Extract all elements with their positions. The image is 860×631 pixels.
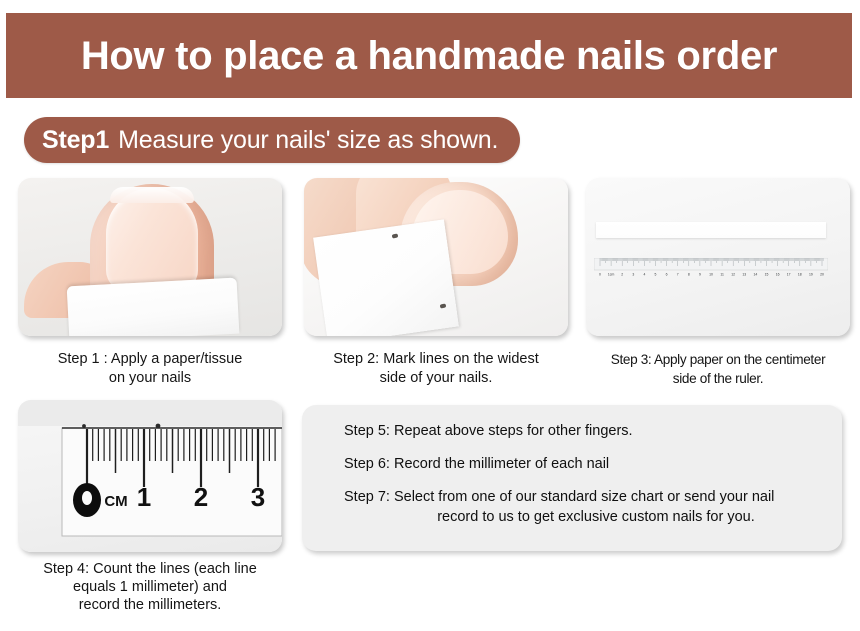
closeup-ruler-graphic: 123 CM <box>18 400 282 552</box>
paper-strip-on-ruler <box>596 222 826 238</box>
step7-line1: Step 7: Select from one of our standard … <box>344 489 774 505</box>
photo-card-step2 <box>304 178 568 336</box>
svg-text:14: 14 <box>754 273 758 277</box>
caption-step1-line2: on your nails <box>12 369 288 388</box>
svg-text:19: 19 <box>809 273 813 277</box>
fingers-marking-paper-photo <box>304 178 568 336</box>
caption-step3-line1: Step 3: Apply paper on the centimeter <box>580 350 856 369</box>
svg-text:4: 4 <box>643 273 645 277</box>
step7-line2: record to us to get exclusive custom nai… <box>344 507 820 527</box>
infographic-page: How to place a handmade nails order Step… <box>0 0 860 631</box>
caption-step2-line2: side of your nails. <box>298 369 574 388</box>
photo-background <box>586 178 850 336</box>
caption-step2: Step 2: Mark lines on the widest side of… <box>298 350 574 388</box>
header-band: How to place a handmade nails order <box>6 13 852 98</box>
svg-text:9: 9 <box>699 273 701 277</box>
svg-text:2: 2 <box>621 273 623 277</box>
svg-text:5: 5 <box>655 273 657 277</box>
nail-tip-shape <box>110 187 194 203</box>
svg-text:CM: CM <box>104 493 127 510</box>
caption-step2-line1: Step 2: Mark lines on the widest <box>298 350 574 369</box>
caption-step4-line3: record the millimeters. <box>10 596 290 614</box>
photo-card-step4: 123 CM <box>18 400 282 552</box>
svg-text:0: 0 <box>599 273 601 277</box>
ruler-closeup-photo: 123 CM <box>18 400 282 552</box>
step6-line: Step 6: Record the millimeter of each na… <box>344 454 820 474</box>
step1-label: Step1 <box>42 128 109 153</box>
step5-line: Step 5: Repeat above steps for other fin… <box>344 421 820 441</box>
svg-text:3: 3 <box>251 482 265 512</box>
paper-tissue-strip <box>67 278 240 336</box>
svg-text:13: 13 <box>742 273 746 277</box>
svg-text:11: 11 <box>720 273 724 277</box>
svg-text:1: 1 <box>137 482 151 512</box>
svg-text:17: 17 <box>787 273 791 277</box>
paper-strip <box>313 219 459 336</box>
svg-text:3: 3 <box>632 273 634 277</box>
caption-step3: Step 3: Apply paper on the centimeter si… <box>580 350 856 388</box>
steps-5-to-7-panel: Step 5: Repeat above steps for other fin… <box>302 405 842 551</box>
svg-text:20: 20 <box>820 273 824 277</box>
svg-text:2: 2 <box>194 482 208 512</box>
long-ruler-graphic: 01cm234567891011121314151617181920 <box>594 258 828 286</box>
caption-step4-line2: equals 1 millimeter) and <box>10 578 290 596</box>
svg-text:6: 6 <box>666 273 668 277</box>
svg-text:16: 16 <box>776 273 780 277</box>
paper-on-ruler-photo: 01cm234567891011121314151617181920 <box>586 178 850 336</box>
step1-banner: Step1 Measure your nails' size as shown. <box>24 117 520 163</box>
step1-instruction: Measure your nails' size as shown. <box>118 128 498 153</box>
svg-text:1cm: 1cm <box>608 273 615 277</box>
caption-step4-line1: Step 4: Count the lines (each line <box>10 560 290 578</box>
caption-step3-line2: side of the ruler. <box>580 369 856 388</box>
svg-text:18: 18 <box>798 273 802 277</box>
svg-text:15: 15 <box>765 273 769 277</box>
caption-step4: Step 4: Count the lines (each line equal… <box>10 560 290 614</box>
fingernail-shape <box>106 188 198 292</box>
caption-step1-line1: Step 1 : Apply a paper/tissue <box>12 350 288 369</box>
svg-text:7: 7 <box>677 273 679 277</box>
svg-text:8: 8 <box>688 273 690 277</box>
step7-line: Step 7: Select from one of our standard … <box>344 487 820 527</box>
svg-text:10: 10 <box>709 273 713 277</box>
photo-card-step1 <box>18 178 282 336</box>
svg-text:12: 12 <box>731 273 735 277</box>
thumb-with-paper-tissue-photo <box>18 178 282 336</box>
page-title: How to place a handmade nails order <box>81 36 777 76</box>
photo-card-step3: 01cm234567891011121314151617181920 <box>586 178 850 336</box>
caption-step1: Step 1 : Apply a paper/tissue on your na… <box>12 350 288 388</box>
